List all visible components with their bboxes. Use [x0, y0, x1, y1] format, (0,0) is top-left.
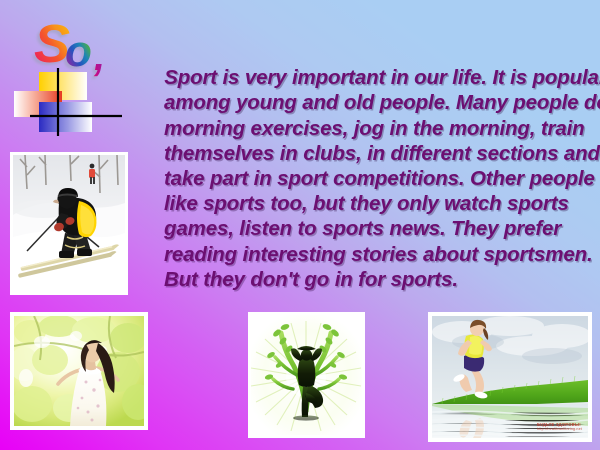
skier-photo [10, 152, 128, 295]
watermark-line-2: http://healthwellbeing.net [537, 427, 582, 432]
woman-in-sunlight-photo [10, 312, 148, 430]
jogger-photo-inner: БУДЬТЕ ЗДОРОВЫ! http://healthwellbeing.n… [432, 316, 588, 438]
jogger-artwork [432, 316, 588, 438]
skier-artwork [13, 155, 125, 292]
body-paragraph-text: Sport is very important in our life. It … [164, 66, 600, 291]
jogger-photo-watermark: БУДЬТЕ ЗДОРОВЫ! http://healthwellbeing.n… [537, 422, 582, 432]
yoga-tree-pose-photo [248, 312, 365, 438]
chart-decoration [12, 64, 122, 150]
jogger-photo: БУДЬТЕ ЗДОРОВЫ! http://healthwellbeing.n… [428, 312, 592, 442]
skier-photo-inner [13, 155, 125, 292]
yoga-photo-inner [251, 315, 362, 435]
yoga-tree-pose-artwork [251, 315, 362, 435]
woman-photo-inner [14, 316, 144, 426]
woman-in-sunlight-artwork [14, 316, 144, 426]
presentation-slide: S o , So, [0, 0, 600, 450]
watermark-line-1: БУДЬТЕ ЗДОРОВЫ! [537, 422, 581, 427]
body-paragraph: Sport is very important in our life. It … [142, 40, 600, 317]
